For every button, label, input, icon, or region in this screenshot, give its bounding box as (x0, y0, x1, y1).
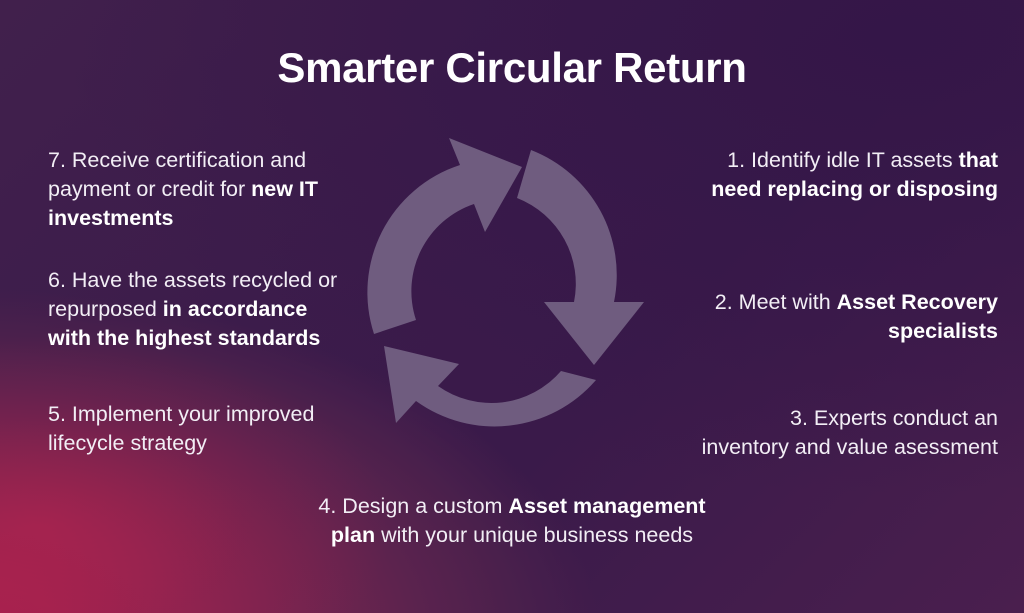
step-item-5: 5. Implement your improved lifecycle str… (48, 400, 348, 458)
step-text: 5. Implement your improved lifecycle str… (48, 402, 314, 455)
step-item-1: 1. Identify idle IT assets that need rep… (698, 146, 998, 204)
step-item-4: 4. Design a custom Asset management plan… (302, 492, 722, 550)
step-text: 2. Meet with (715, 290, 837, 314)
step-item-3: 3. Experts conduct an inventory and valu… (698, 404, 998, 462)
recycle-arrow-bottom (384, 346, 596, 426)
step-item-7: 7. Receive certification and payment or … (48, 146, 348, 233)
recycle-arrow-group (367, 138, 644, 426)
page-title: Smarter Circular Return (0, 44, 1024, 92)
circular-recycle-arrows-graphic (356, 128, 656, 460)
step-text: with your unique business needs (375, 523, 693, 547)
step-text-emphasis: Asset Recovery specialists (837, 290, 998, 343)
recycle-arrow-right (517, 150, 644, 365)
step-item-2: 2. Meet with Asset Recovery specialists (698, 288, 998, 346)
step-text: 1. Identify idle IT assets (727, 148, 958, 172)
step-text: 3. Experts conduct an inventory and valu… (702, 406, 998, 459)
step-text: 4. Design a custom (318, 494, 508, 518)
recycle-arrow-top (367, 138, 522, 334)
step-item-6: 6. Have the assets recycled or repurpose… (48, 266, 348, 353)
